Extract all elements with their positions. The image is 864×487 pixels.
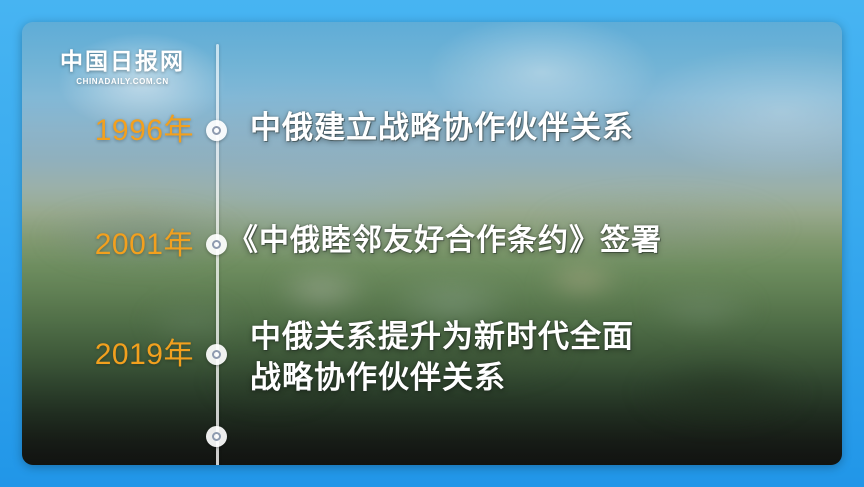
timeline-year-2001: 2001年 [22, 230, 194, 260]
timeline-year-2019: 2019年 [22, 340, 194, 370]
photo-panel: 中国日报网 CHINADAILY.COM.CN 1996年 中俄建立战略协作伙伴… [22, 22, 842, 465]
timeline-node-4 [206, 426, 227, 447]
timeline-year-1996: 1996年 [22, 116, 194, 146]
timeline-node-2 [206, 234, 227, 255]
timeline-event-2001-line-1: 《中俄睦邻友好合作条约》签署 [228, 221, 818, 261]
slide-frame: 中国日报网 CHINADAILY.COM.CN 1996年 中俄建立战略协作伙伴… [0, 0, 864, 487]
timeline-event-2001: 《中俄睦邻友好合作条约》签署 [228, 221, 818, 261]
timeline-event-2019-line-1: 中俄关系提升为新时代全面 [250, 317, 818, 358]
timeline-event-2019: 中俄关系提升为新时代全面 战略协作伙伴关系 [250, 317, 818, 399]
chinadaily-logo: 中国日报网 CHINADAILY.COM.CN [60, 50, 185, 86]
timeline-node-1 [206, 120, 227, 141]
timeline-event-1996-line-1: 中俄建立战略协作伙伴关系 [250, 108, 818, 149]
timeline-event-2019-line-2: 战略协作伙伴关系 [250, 358, 818, 399]
timeline-node-3 [206, 344, 227, 365]
logo-domain-text: CHINADAILY.COM.CN [60, 78, 185, 86]
timeline-event-1996: 中俄建立战略协作伙伴关系 [250, 108, 818, 149]
logo-chinese-text: 中国日报网 [60, 50, 185, 73]
